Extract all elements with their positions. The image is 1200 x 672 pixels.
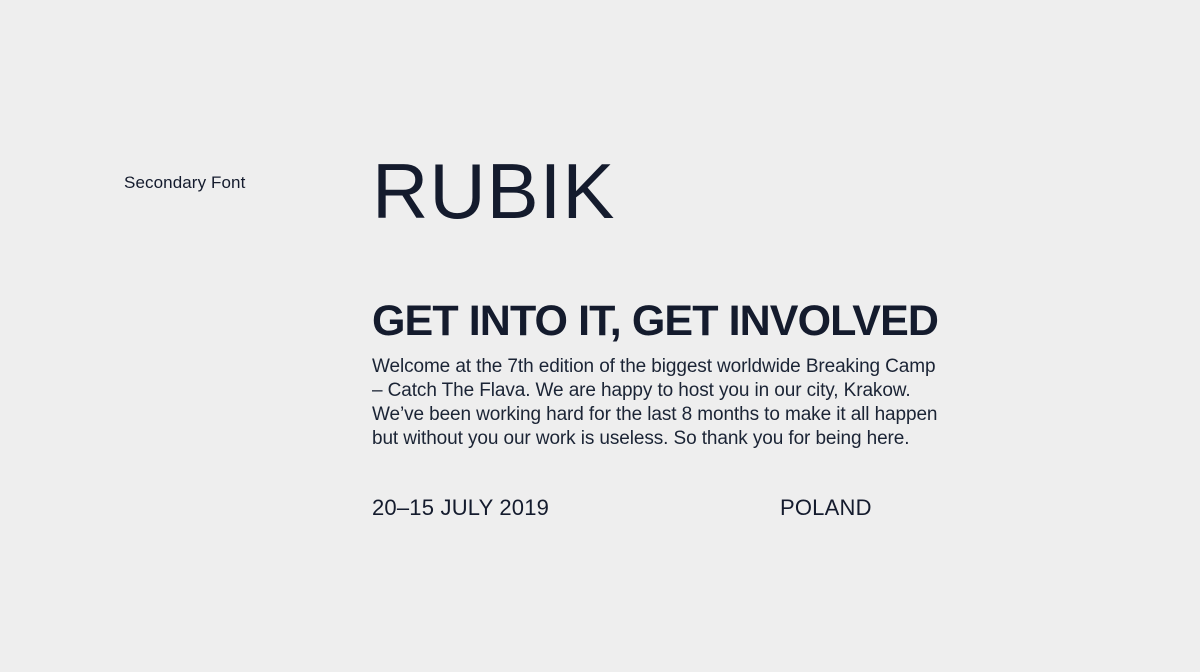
font-name-display: RUBIK	[372, 150, 1072, 232]
paragraph-line: We’ve been working hard for the last 8 m…	[372, 403, 1012, 427]
event-date: 20–15 JULY 2019	[372, 495, 549, 521]
typography-specimen-slide: Secondary Font RUBIK GET INTO IT, GET IN…	[0, 0, 1200, 672]
paragraph-line: – Catch The Flava. We are happy to host …	[372, 379, 1012, 403]
sample-headline: GET INTO IT, GET INVOLVED	[372, 298, 938, 344]
event-location: POLAND	[780, 495, 872, 521]
event-meta-row: 20–15 JULY 2019 POLAND	[372, 495, 1012, 521]
specimen-content: RUBIK GET INTO IT, GET INVOLVED Welcome …	[372, 150, 1072, 232]
paragraph-line: Welcome at the 7th edition of the bigges…	[372, 355, 1012, 379]
sample-paragraph: Welcome at the 7th edition of the bigges…	[372, 355, 1012, 451]
paragraph-line: but without you our work is useless. So …	[372, 427, 1012, 451]
secondary-font-label: Secondary Font	[124, 172, 245, 194]
